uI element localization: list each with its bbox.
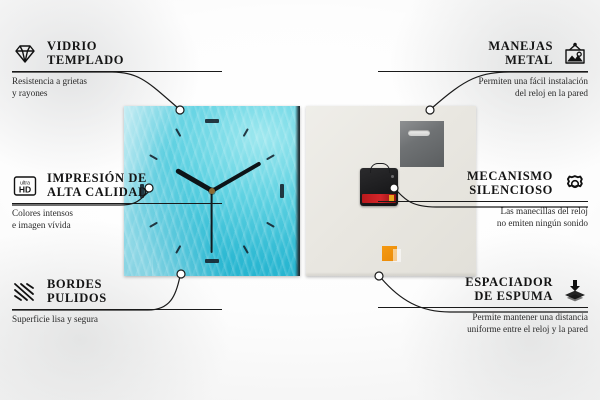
clock-tick [266,154,275,160]
callout-rule [12,309,222,310]
metal-hanger-plate [400,121,444,167]
clock-tick [149,154,158,160]
callout-bordes-pulidos: BORDES PULIDOS Superficie lisa y segura [12,278,222,326]
clock-tick [243,245,249,254]
callout-subtitle: Las manecillas del reloj no emiten ningú… [378,206,588,229]
diagonal-lines-icon [12,280,38,304]
callout-title: VIDRIO TEMPLADO [47,40,124,67]
infographic-canvas: VIDRIO TEMPLADO Resistencia a grietas y … [0,0,600,400]
clock-tick [243,128,249,137]
foam-spacer-icon [562,278,588,302]
callout-title: MECANISMO SILENCIOSO [467,170,553,197]
callout-impresion-alta-calidad: ultra HD IMPRESIÓN DE ALTA CALIDAD Color… [12,172,222,231]
clock-tick [205,119,219,123]
gear-icon [562,172,588,196]
callout-title: IMPRESIÓN DE ALTA CALIDAD [47,172,148,199]
clock-tick [280,184,284,198]
callout-title: MANEJAS METAL [488,40,553,67]
clock-tick [175,128,181,137]
callout-header: MANEJAS METAL [378,40,588,67]
callout-subtitle: Permite mantener una distancia uniforme … [378,312,588,335]
svg-text:HD: HD [19,184,31,194]
callout-title: BORDES PULIDOS [47,278,107,305]
hanger-slot [408,130,430,136]
callout-header: VIDRIO TEMPLADO [12,40,222,67]
foam-spacer [382,246,397,261]
clock-tick [266,222,275,228]
callout-rule [378,71,588,72]
callout-subtitle: Permiten una fácil instalación del reloj… [378,76,588,99]
callout-header: BORDES PULIDOS [12,278,222,305]
callout-title: ESPACIADOR DE ESPUMA [465,276,553,303]
diamond-icon [12,42,38,66]
callout-subtitle: Resistencia a grietas y rayones [12,76,222,99]
callout-header: ultra HD IMPRESIÓN DE ALTA CALIDAD [12,172,222,199]
callout-espaciador-de-espuma: ESPACIADOR DE ESPUMA Permite mantener un… [378,276,588,335]
callout-vidrio-templado: VIDRIO TEMPLADO Resistencia a grietas y … [12,40,222,99]
callout-header: ESPACIADOR DE ESPUMA [378,276,588,303]
callout-manejas-metal: MANEJAS METAL Permiten una fácil instala… [378,40,588,99]
callout-rule [12,203,222,204]
callout-mecanismo-silencioso: MECANISMO SILENCIOSO Las manecillas del … [378,170,588,229]
callout-rule [378,201,588,202]
picture-hanger-icon [562,42,588,66]
callout-rule [378,307,588,308]
clock-tick [205,259,219,263]
callout-subtitle: Colores intensos e imagen vívida [12,208,222,231]
ultra-hd-icon: ultra HD [12,174,38,198]
clock-tick [175,245,181,254]
callout-rule [12,71,222,72]
callout-subtitle: Superficie lisa y segura [12,314,222,326]
callout-header: MECANISMO SILENCIOSO [378,170,588,197]
